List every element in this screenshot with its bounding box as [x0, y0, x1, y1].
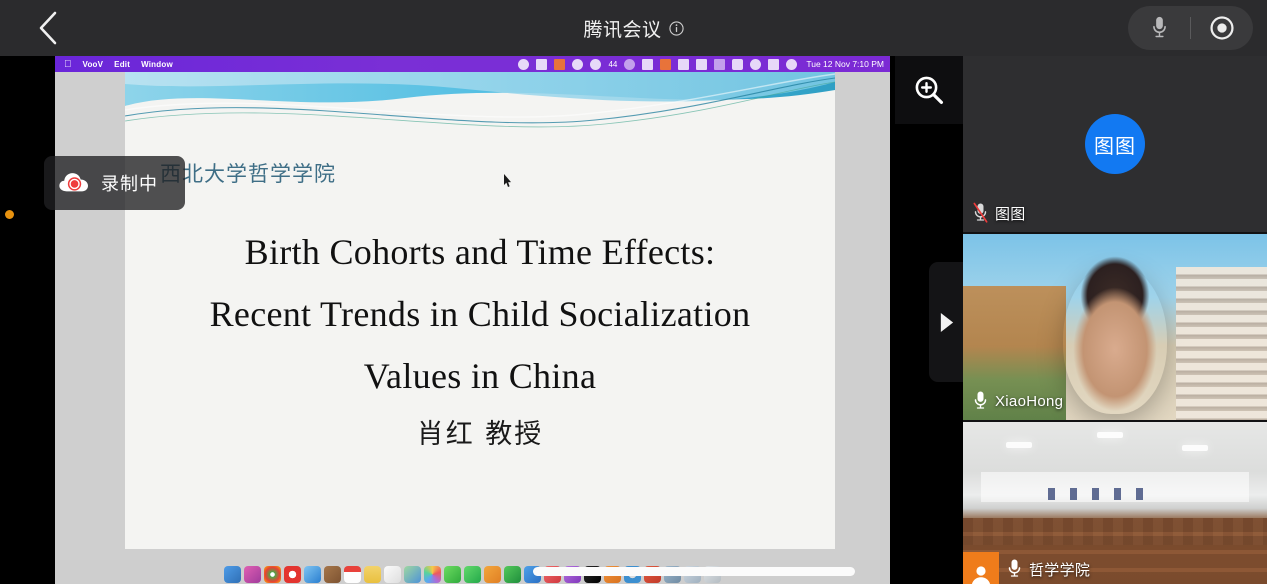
creative-cloud-icon[interactable] [572, 59, 583, 70]
ceiling-light [1006, 442, 1032, 448]
participant-label: 图图 [973, 202, 1026, 224]
ceiling-light [1182, 445, 1208, 451]
recording-label: 录制中 [101, 170, 158, 196]
globe-icon[interactable] [624, 59, 635, 70]
participant-tile[interactable]: 哲学学院 [963, 422, 1267, 584]
avatar-initials: 图图 [1094, 130, 1136, 159]
participant-label: 哲学学院 [1007, 558, 1090, 580]
messages-icon[interactable] [444, 566, 461, 583]
host-person-icon [963, 552, 999, 584]
mouse-pointer-icon [503, 174, 512, 193]
launchpad-icon[interactable] [244, 566, 261, 583]
participant-rail: 图图 图图 [963, 56, 1267, 584]
opera-icon[interactable] [284, 566, 301, 583]
recording-status-badge: 录制中 [44, 156, 185, 210]
input-source-a-icon[interactable] [696, 59, 707, 70]
zoom-in-button[interactable] [895, 56, 963, 124]
microphone-icon [973, 390, 988, 412]
control-center-icon[interactable] [768, 59, 779, 70]
preview-icon[interactable] [484, 566, 501, 583]
chrome-icon[interactable] [264, 566, 281, 583]
slide-organization: 西北大学哲学学院 [160, 158, 336, 188]
calendar-icon[interactable] [344, 566, 361, 583]
microphone-icon [1007, 558, 1022, 580]
slide-title: Birth Cohorts and Time Effects: Recent T… [125, 222, 835, 408]
cloud-record-icon [58, 170, 92, 196]
slide-title-line-2: Recent Trends in Child Socialization [125, 284, 835, 346]
notes-icon[interactable] [324, 566, 341, 583]
info-circle-icon[interactable] [669, 21, 684, 36]
stickies-icon[interactable] [364, 566, 381, 583]
camera-toggle-button[interactable] [1191, 6, 1253, 50]
shared-mac-desktop:  VooV Edit Window 44 [55, 56, 890, 584]
avatar: 图图 [1085, 114, 1145, 174]
unread-count: 44 [608, 60, 617, 69]
speaker-silhouette [1063, 264, 1167, 414]
left-edge-indicator [5, 210, 14, 219]
meeting-title-group: 腾讯会议 [0, 0, 1267, 56]
menu-item-app[interactable]: VooV [83, 60, 104, 69]
wechat-icon[interactable] [590, 59, 601, 70]
horizontal-scrollbar[interactable] [533, 567, 855, 576]
slide-title-line-1: Birth Cohorts and Time Effects: [125, 222, 835, 284]
wifi-icon[interactable] [732, 59, 743, 70]
mute-toggle-button[interactable] [1128, 6, 1190, 50]
participant-name: XiaoHong [995, 393, 1063, 410]
ceiling-light [1097, 432, 1123, 438]
slide-wave-decoration [125, 72, 835, 154]
finder-icon[interactable] [224, 566, 241, 583]
menu-bar-clock[interactable]: Tue 12 Nov 7:10 PM [804, 59, 884, 69]
slide-author: 肖红 教授 [125, 412, 835, 451]
header-controls-pill [1128, 6, 1253, 50]
mac-menu-status-area: 44 Tue 12 Nov 7:10 PM [518, 59, 890, 70]
microphone-icon [1151, 15, 1168, 41]
battery-icon[interactable] [714, 59, 725, 70]
mac-menu-left:  VooV Edit Window [55, 59, 173, 70]
participant-name: 哲学学院 [1029, 559, 1090, 580]
siri-icon[interactable] [786, 59, 797, 70]
participant-tile[interactable]: XiaoHong [963, 234, 1267, 420]
triangle-right-icon [938, 312, 955, 333]
shared-screen-viewport[interactable]:  VooV Edit Window 44 [0, 56, 963, 584]
menu-item-edit[interactable]: Edit [114, 60, 130, 69]
mail-icon[interactable] [304, 566, 321, 583]
search-binoculars-icon[interactable] [642, 59, 653, 70]
menu-item-window[interactable]: Window [141, 60, 173, 69]
shield-icon[interactable] [660, 59, 671, 70]
keyboard-icon[interactable] [536, 59, 547, 70]
meeting-app-window: 腾讯会议 [0, 0, 1267, 584]
expand-panel-button[interactable] [929, 262, 963, 382]
participant-label: XiaoHong [973, 390, 1063, 412]
spotlight-search-icon[interactable] [750, 59, 761, 70]
participant-name: 图图 [995, 203, 1026, 224]
reminders-icon[interactable] [384, 566, 401, 583]
magnifier-plus-icon [912, 73, 946, 107]
page-title: 腾讯会议 [583, 15, 661, 42]
microphone-muted-icon [973, 202, 988, 224]
apple-logo-icon[interactable]:  [64, 59, 72, 70]
photos-icon[interactable] [424, 566, 441, 583]
camera-record-icon [1208, 14, 1236, 42]
app-header-bar: 腾讯会议 [0, 0, 1267, 56]
mac-menu-bar:  VooV Edit Window 44 [55, 56, 890, 72]
numbers-icon[interactable] [504, 566, 521, 583]
participant-tile[interactable]: 图图 图图 [963, 56, 1267, 232]
classroom-calligraphy [1048, 488, 1157, 500]
microsoft-teams-icon[interactable] [554, 59, 565, 70]
presentation-slide: 西北大学哲学学院 Birth Cohorts and Time Effects:… [125, 72, 835, 549]
slide-title-line-3: Values in China [125, 346, 835, 408]
facetime-icon[interactable] [464, 566, 481, 583]
display-icon[interactable] [678, 59, 689, 70]
maps-icon[interactable] [404, 566, 421, 583]
dropbox-icon[interactable] [518, 59, 529, 70]
